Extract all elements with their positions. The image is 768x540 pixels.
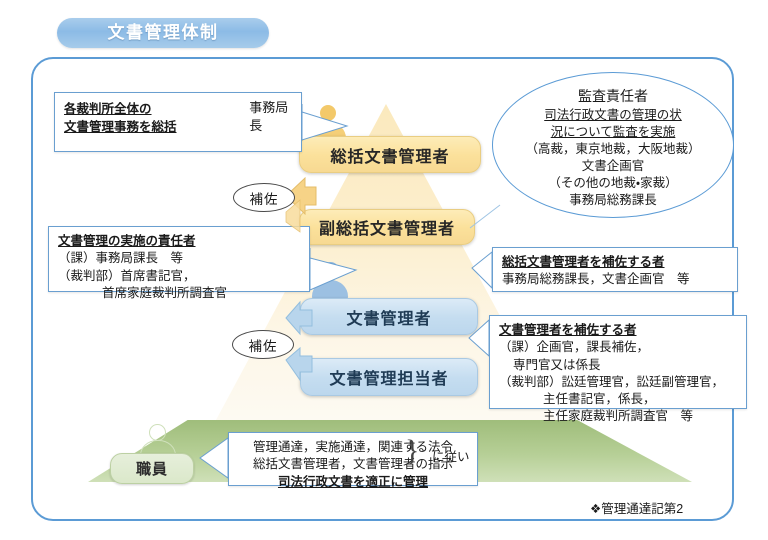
connector-overlay bbox=[0, 0, 768, 540]
callout-tail-jisshi bbox=[310, 248, 356, 290]
arrow-assist-to-kanrisha bbox=[286, 302, 312, 334]
assist-badge-upper: 補佐 bbox=[233, 183, 295, 212]
arrow-assist-to-tantousha bbox=[286, 348, 312, 380]
callout-tail-hosa-kanrisha bbox=[469, 320, 489, 356]
callout-tail-hosa-soukatsu bbox=[472, 252, 492, 288]
callout-tail-staff bbox=[200, 438, 228, 478]
assist-badge-lower: 補佐 bbox=[232, 330, 294, 359]
callout-tail-jimukyoku bbox=[302, 104, 347, 140]
diagram-canvas: 文書管理体制 総 bbox=[0, 0, 768, 540]
audit-connector-line bbox=[470, 205, 500, 228]
